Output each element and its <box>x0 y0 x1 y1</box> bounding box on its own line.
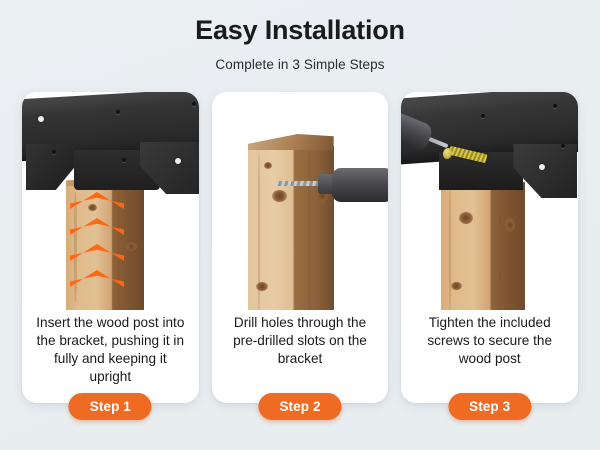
step-3-caption: Tighten the included screws to secure th… <box>401 314 578 368</box>
step-card-1[interactable]: Insert the wood post into the bracket, p… <box>22 92 199 403</box>
bracket-dimple-icon <box>192 102 196 106</box>
step-1-illustration <box>22 92 199 310</box>
wood-grain-icon <box>258 152 260 310</box>
wood-knot-icon <box>88 204 97 211</box>
step-2-caption: Drill holes through the pre-drilled slot… <box>212 314 389 368</box>
step-card-2[interactable]: Drill holes through the pre-drilled slot… <box>212 92 389 403</box>
bracket-dimple-icon <box>116 110 120 114</box>
wood-post-icon <box>441 182 525 310</box>
bracket-dimple-icon <box>52 150 56 154</box>
wood-post-top-face-icon <box>248 134 334 150</box>
step-1-caption: Insert the wood post into the bracket, p… <box>22 314 199 386</box>
power-drill-icon <box>332 168 388 202</box>
step-card-3[interactable]: Tighten the included screws to secure th… <box>401 92 578 403</box>
step-3-badge[interactable]: Step 3 <box>448 393 531 420</box>
post-drilling-scene <box>212 92 389 310</box>
page-title: Easy Installation <box>0 16 600 46</box>
wood-knot-icon <box>126 242 137 251</box>
step-3-illustration <box>401 92 578 310</box>
wood-grain-icon <box>308 152 310 310</box>
step-2-illustration <box>212 92 389 310</box>
drill-bit-icon <box>276 181 320 186</box>
step-1-badge[interactable]: Step 1 <box>69 393 152 420</box>
step-2-badge[interactable]: Step 2 <box>258 393 341 420</box>
wood-grain-icon <box>74 192 77 302</box>
bracket-screw-hole-icon <box>175 158 181 164</box>
screw-tightening-scene <box>401 92 578 310</box>
bracket-screw-hole-icon <box>38 116 44 122</box>
wood-knot-icon <box>272 190 287 202</box>
page-subtitle: Complete in 3 Simple Steps <box>0 57 600 72</box>
steps-row: Insert the wood post into the bracket, p… <box>22 92 578 403</box>
header: Easy Installation Complete in 3 Simple S… <box>0 0 600 72</box>
wood-knot-icon <box>264 162 272 169</box>
bracket-dimple-icon <box>122 158 126 162</box>
bracket-post-scene <box>22 92 199 310</box>
